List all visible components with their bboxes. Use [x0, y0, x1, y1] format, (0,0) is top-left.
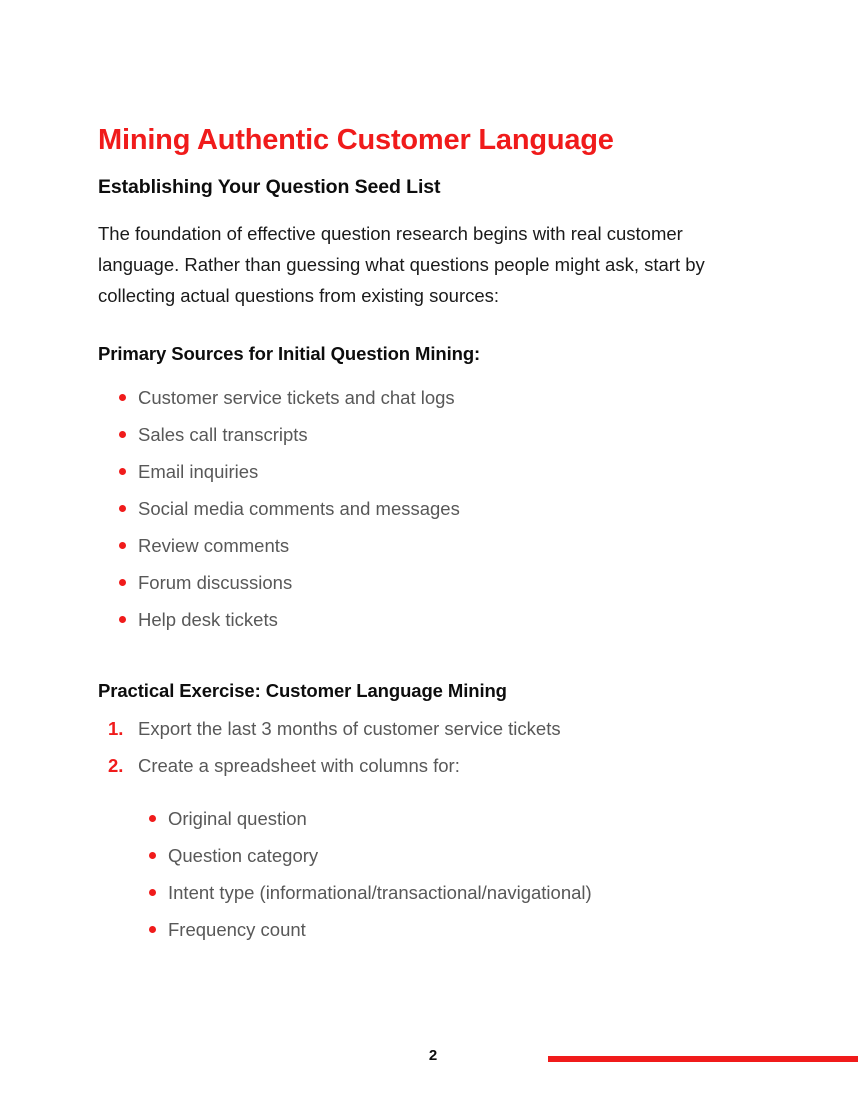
intro-paragraph: The foundation of effective question res…	[98, 200, 764, 311]
bullet-dot-icon	[119, 579, 126, 586]
practical-exercise-steps: 1. Export the last 3 months of customer …	[98, 702, 764, 776]
spreadsheet-columns-list: Original question Question category Inte…	[98, 792, 764, 940]
list-item: Original question	[98, 808, 764, 829]
list-item-label: Original question	[168, 808, 307, 829]
section-heading-primary-sources: Primary Sources for Initial Question Min…	[98, 311, 764, 365]
list-item: Frequency count	[98, 919, 764, 940]
list-item-label: Review comments	[138, 535, 289, 556]
list-item: Intent type (informational/transactional…	[98, 882, 764, 903]
footer-accent-bar	[548, 1056, 858, 1062]
bullet-dot-icon	[119, 394, 126, 401]
bullet-dot-icon	[149, 889, 156, 896]
list-item: Forum discussions	[98, 572, 764, 593]
list-item: Help desk tickets	[98, 609, 764, 630]
list-item-label: Frequency count	[168, 919, 306, 940]
list-item: Sales call transcripts	[98, 424, 764, 445]
list-marker: 1.	[108, 718, 132, 739]
list-item: 1. Export the last 3 months of customer …	[98, 718, 764, 739]
bullet-dot-icon	[149, 852, 156, 859]
page-subtitle: Establishing Your Question Seed List	[98, 156, 764, 199]
list-item: Review comments	[98, 535, 764, 556]
list-item-label: Customer service tickets and chat logs	[138, 387, 455, 408]
list-item-label: Export the last 3 months of customer ser…	[138, 718, 561, 739]
list-item-label: Email inquiries	[138, 461, 258, 482]
document-page: Mining Authentic Customer Language Estab…	[0, 0, 866, 1115]
list-item-label: Create a spreadsheet with columns for:	[138, 755, 460, 776]
list-item-label: Sales call transcripts	[138, 424, 308, 445]
list-item: Question category	[98, 845, 764, 866]
list-marker: 2.	[108, 755, 132, 776]
list-item: Customer service tickets and chat logs	[98, 387, 764, 408]
list-item: 2. Create a spreadsheet with columns for…	[98, 755, 764, 776]
page-footer: 2	[0, 1025, 866, 1115]
bullet-dot-icon	[149, 926, 156, 933]
list-item-label: Forum discussions	[138, 572, 292, 593]
list-item-label: Social media comments and messages	[138, 498, 460, 519]
bullet-dot-icon	[119, 431, 126, 438]
list-item-label: Question category	[168, 845, 318, 866]
bullet-dot-icon	[119, 542, 126, 549]
list-item: Email inquiries	[98, 461, 764, 482]
page-title: Mining Authentic Customer Language	[98, 0, 764, 156]
list-item-label: Help desk tickets	[138, 609, 278, 630]
bullet-dot-icon	[119, 468, 126, 475]
list-item: Social media comments and messages	[98, 498, 764, 519]
bullet-dot-icon	[119, 616, 126, 623]
section-heading-practical-exercise: Practical Exercise: Customer Language Mi…	[98, 630, 764, 702]
list-item-label: Intent type (informational/transactional…	[168, 882, 592, 903]
primary-sources-list: Customer service tickets and chat logs S…	[98, 365, 764, 630]
bullet-dot-icon	[149, 815, 156, 822]
page-content: Mining Authentic Customer Language Estab…	[98, 0, 764, 940]
bullet-dot-icon	[119, 505, 126, 512]
